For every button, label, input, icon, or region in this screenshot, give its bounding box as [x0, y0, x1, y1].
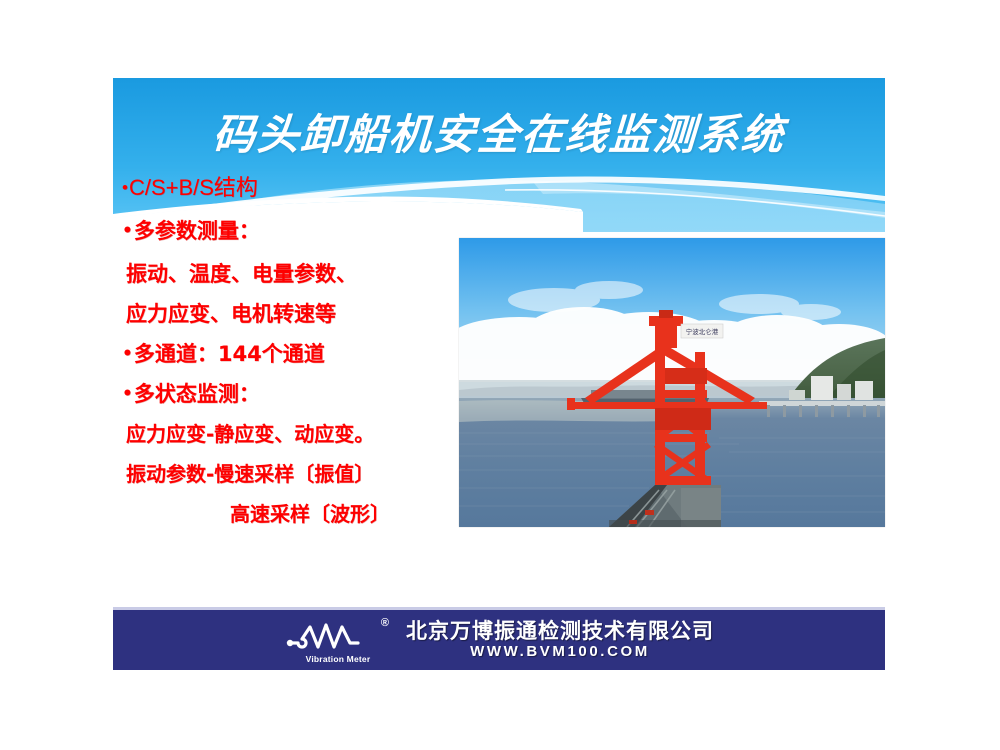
lower-white-area — [113, 527, 885, 609]
company-name: 北京万博振通检测技术有限公司 — [406, 619, 714, 643]
list-item: •多参数测量： — [122, 208, 472, 254]
presentation-slide: 码头卸船机安全在线监测系统 •C/S+B/S结构 •多参数测量： 振动、温度、电… — [0, 0, 1000, 750]
registered-mark-icon: ® — [381, 617, 389, 629]
list-item-label: 高速采样〔波形〕 — [230, 502, 390, 526]
bullet-list: •C/S+B/S结构 •多参数测量： 振动、温度、电量参数、 应力应变、电机转速… — [122, 168, 472, 534]
footer-content: ® Vibration Meter 北京万博振通检测技术有限公司 WWW.BVM… — [113, 610, 885, 670]
list-item: •多通道：144个通道 — [122, 334, 472, 374]
list-item: 应力应变、电机转速等 — [122, 294, 472, 334]
list-item: •C/S+B/S结构 — [122, 168, 472, 208]
list-item-label: 应力应变、电机转速等 — [126, 302, 336, 326]
company-website: WWW.BVM100.COM — [406, 643, 714, 661]
page-title: 码头卸船机安全在线监测系统 — [111, 101, 886, 162]
vibration-waveform-icon — [284, 617, 392, 657]
list-item: 高速采样〔波形〕 — [122, 494, 472, 534]
logo-caption: Vibration Meter — [284, 654, 392, 664]
list-item-label: 应力应变-静应变、动应变。 — [126, 422, 374, 446]
list-item-label: 多状态监测： — [134, 382, 260, 406]
list-item: 振动参数-慢速采样〔振值〕 — [122, 454, 472, 494]
bullet-marker: • — [122, 221, 133, 241]
bullet-marker: • — [122, 384, 133, 404]
footer-bar: ® Vibration Meter 北京万博振通检测技术有限公司 WWW.BVM… — [113, 607, 885, 670]
list-item-label: 多通道：144个通道 — [134, 342, 325, 366]
list-item: 振动、温度、电量参数、 — [122, 254, 472, 294]
svg-text:宁波北仑港: 宁波北仑港 — [686, 327, 719, 336]
right-white-margin — [885, 78, 1000, 678]
list-item-label: 振动、温度、电量参数、 — [126, 262, 357, 286]
list-item-label: 多参数测量： — [134, 219, 260, 243]
photo-illustration: 宁波北仑港 — [459, 238, 885, 527]
ship-unloader-photo: 宁波北仑港 — [459, 238, 885, 527]
list-item: •多状态监测： — [122, 374, 472, 414]
list-item-label: 振动参数-慢速采样〔振值〕 — [126, 462, 374, 486]
bullet-marker: • — [122, 178, 128, 197]
list-item: 应力应变-静应变、动应变。 — [122, 414, 472, 454]
bullet-marker: • — [122, 344, 133, 364]
list-item-label: C/S+B/S结构 — [129, 175, 258, 200]
company-logo: ® Vibration Meter — [284, 617, 392, 663]
footer-company-block: 北京万博振通检测技术有限公司 WWW.BVM100.COM — [406, 619, 714, 661]
